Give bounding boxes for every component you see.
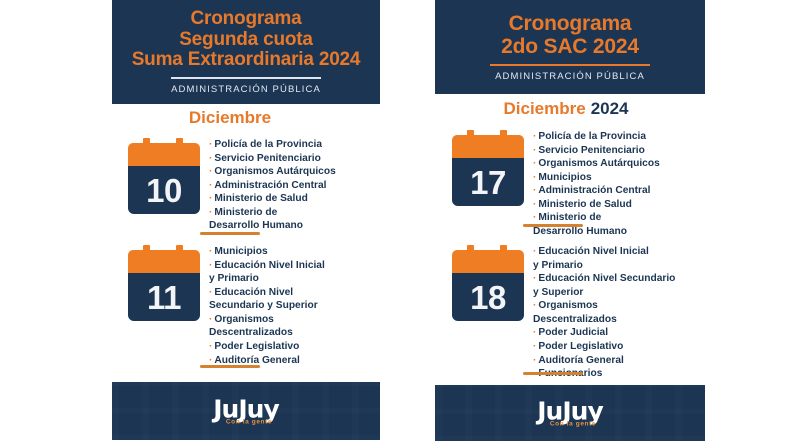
list-item: Ministerio de: [209, 206, 336, 220]
list-item: Servicio Penitenciario: [209, 152, 336, 166]
list-item: Policía de la Provincia: [533, 130, 660, 144]
calendar-band: [128, 143, 200, 166]
header-title-right: Cronograma 2do SAC 2024: [501, 12, 639, 58]
list-item: y Primario: [209, 272, 325, 286]
list-item: Organismos Autárquicos: [209, 165, 336, 179]
calendar-band: [128, 250, 200, 273]
list-item: Poder Legislativo: [533, 340, 675, 354]
header-rule-right: [490, 64, 650, 66]
entity-list: Municipios Educación Nivel Inicial y Pri…: [209, 243, 325, 367]
calendar-day-number: 17: [470, 166, 506, 199]
calendar-body: 17: [452, 158, 524, 206]
month-heading-left: Diciembre: [60, 108, 400, 128]
list-item: Educación Nivel Inicial: [533, 245, 675, 259]
list-item: Organismos: [533, 299, 675, 313]
calendar-band: [452, 135, 524, 158]
header-title-line-1: Cronograma: [132, 9, 361, 30]
entity-list: Policía de la Provincia Servicio Peniten…: [209, 136, 336, 233]
list-item: Organismos Autárquicos: [533, 157, 660, 171]
entry-right-2: 18 Educación Nivel Inicial y Primario Ed…: [452, 243, 675, 381]
column-right: Cronograma 2do SAC 2024 ADMINISTRACIÓN P…: [390, 0, 730, 444]
list-item: Desarrollo Humano: [209, 219, 336, 233]
header-subtitle-left: ADMINISTRACIÓN PÚBLICA: [171, 84, 321, 95]
list-item: Educación Nivel Inicial: [209, 259, 325, 273]
entry-left-2: 11 Municipios Educación Nivel Inicial y …: [128, 243, 325, 367]
list-item: Secundario y Superior: [209, 299, 325, 313]
footer-panel-right: JuJuy Con la gente: [435, 385, 705, 441]
entry-left-1: 10 Policía de la Provincia Servicio Peni…: [128, 136, 336, 233]
header-title-left: Cronograma Segunda cuota Suma Extraordin…: [132, 9, 361, 72]
header-title-line-2: Segunda cuota: [132, 30, 361, 51]
calendar-body: 11: [128, 273, 200, 321]
jujuy-logo: JuJuy Con la gente: [112, 397, 380, 426]
header-title-line-1: Cronograma: [501, 12, 639, 35]
entry-right-1: 17 Policía de la Provincia Servicio Peni…: [452, 128, 660, 239]
section-divider: [200, 232, 260, 235]
list-item: Ministerio de Salud: [209, 192, 336, 206]
list-item: Municipios: [209, 245, 325, 259]
list-item: Poder Legislativo: [209, 340, 325, 354]
header-rule-left: [171, 77, 321, 79]
month-name-right: Diciembre: [503, 99, 585, 118]
list-item: Administración Central: [533, 184, 660, 198]
list-item: Educación Nivel: [209, 286, 325, 300]
entity-list: Policía de la Provincia Servicio Peniten…: [533, 128, 660, 239]
month-name-left: Diciembre: [189, 108, 271, 127]
header-title-line-2: 2do SAC 2024: [501, 35, 639, 58]
list-item: Descentralizados: [533, 313, 675, 327]
calendar-icon: 18: [452, 243, 524, 321]
month-year-right: 2024: [591, 99, 629, 118]
calendar-day-number: 11: [147, 281, 181, 314]
header-panel-left: Cronograma Segunda cuota Suma Extraordin…: [112, 0, 380, 104]
list-item: Educación Nivel Secundario: [533, 272, 675, 286]
list-item: y Primario: [533, 259, 675, 273]
section-divider: [523, 224, 583, 227]
entity-list: Educación Nivel Inicial y Primario Educa…: [533, 243, 675, 381]
list-item: Ministerio de Salud: [533, 198, 660, 212]
list-item: Descentralizados: [209, 326, 325, 340]
calendar-day-number: 10: [146, 174, 182, 207]
calendar-icon: 10: [128, 136, 200, 214]
calendar-day-number: 18: [470, 281, 506, 314]
calendar-icon: 11: [128, 243, 200, 321]
list-item: Ministerio de: [533, 211, 660, 225]
list-item: Municipios: [533, 171, 660, 185]
calendar-body: 18: [452, 273, 524, 321]
calendar-band: [452, 250, 524, 273]
header-panel-right: Cronograma 2do SAC 2024 ADMINISTRACIÓN P…: [435, 0, 705, 94]
jujuy-logo: JuJuy Con la gente: [435, 399, 705, 428]
list-item: Organismos: [209, 313, 325, 327]
jujuy-logo-tagline: Con la gente: [118, 419, 380, 426]
list-item: Policía de la Provincia: [209, 138, 336, 152]
list-item: Poder Judicial: [533, 326, 675, 340]
jujuy-logo-tagline: Con la gente: [441, 421, 705, 428]
poster-canvas: Cronograma Segunda cuota Suma Extraordin…: [0, 0, 790, 444]
list-item: Administración Central: [209, 179, 336, 193]
calendar-body: 10: [128, 166, 200, 214]
list-item: y Superior: [533, 286, 675, 300]
header-title-line-3: Suma Extraordinaria 2024: [132, 50, 361, 71]
footer-panel-left: JuJuy Con la gente: [112, 382, 380, 440]
month-heading-right: Diciembre2024: [396, 99, 736, 119]
header-subtitle-right: ADMINISTRACIÓN PÚBLICA: [495, 71, 645, 82]
section-divider: [200, 365, 260, 368]
column-left: Cronograma Segunda cuota Suma Extraordin…: [60, 0, 400, 444]
section-divider: [523, 372, 583, 375]
list-item: Auditoría General: [533, 354, 675, 368]
calendar-icon: 17: [452, 128, 524, 206]
list-item: Servicio Penitenciario: [533, 144, 660, 158]
